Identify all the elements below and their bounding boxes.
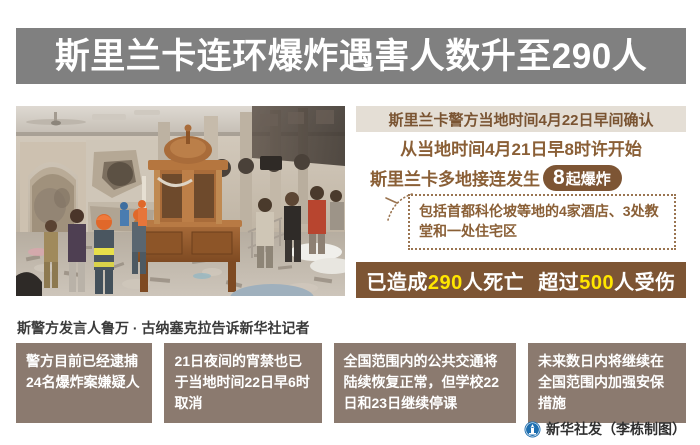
targets-callout: 包括首都科伦坡等地的4家酒店、3处教堂和一处住宅区 bbox=[408, 194, 676, 250]
confirmation-band: 斯里兰卡警方当地时间4月22日早间确认 bbox=[356, 106, 686, 132]
summary-panel: 斯里兰卡警方当地时间4月22日早间确认 从当地时间4月21日早8时许开始 斯里兰… bbox=[356, 106, 686, 298]
casualty-bar: 已造成290人死亡 超过500人受伤 bbox=[356, 262, 686, 298]
deaths-prefix: 已造成 bbox=[366, 272, 428, 294]
injured-prefix: 超过 bbox=[538, 272, 579, 294]
explosion-count-badge: 8 起爆炸 bbox=[543, 165, 622, 191]
explosions-prefix: 斯里兰卡多地接连发生 bbox=[370, 165, 540, 190]
fact-box: 未来数日内将继续在全国范围内加强安保措施 bbox=[528, 343, 686, 423]
deaths-stat: 已造成290人死亡 bbox=[366, 266, 524, 295]
source-attribution: 斯警方发言人鲁万 · 古纳塞克拉告诉新华社记者 bbox=[17, 318, 309, 338]
explosions-line: 斯里兰卡多地接连发生 8 起爆炸 bbox=[356, 162, 686, 192]
news-photo bbox=[16, 106, 345, 296]
news-photo-illustration bbox=[16, 106, 345, 296]
footer-credit: 新华社发（李栋制图） bbox=[524, 419, 686, 439]
footer-credit-text: 新华社发（李栋制图） bbox=[546, 419, 686, 439]
timeline-line: 从当地时间4月21日早8时许开始 bbox=[356, 132, 686, 162]
injured-suffix: 人受伤 bbox=[614, 272, 676, 294]
timeline-text: 从当地时间4月21日早8时许开始 bbox=[400, 135, 642, 160]
explosion-count-number: 8 bbox=[553, 167, 565, 188]
fact-box: 21日夜间的宵禁也已于当地时间22日早6时取消 bbox=[164, 343, 321, 423]
xinhua-logo-icon bbox=[524, 421, 541, 438]
page-title-bar: 斯里兰卡连环爆炸遇害人数升至290人 bbox=[16, 28, 686, 84]
confirmation-text: 斯里兰卡警方当地时间4月22日早间确认 bbox=[388, 109, 653, 130]
fact-box: 全国范围内的公共交通将陆续恢复正常，但学校22日和23日继续停课 bbox=[334, 343, 516, 423]
injured-number: 500 bbox=[579, 272, 614, 294]
page-title: 斯里兰卡连环爆炸遇害人数升至290人 bbox=[55, 39, 647, 74]
deaths-suffix: 人死亡 bbox=[463, 272, 525, 294]
injured-stat: 超过500人受伤 bbox=[538, 266, 675, 295]
targets-callout-wrap: 包括首都科伦坡等地的4家酒店、3处教堂和一处住宅区 bbox=[408, 194, 676, 250]
deaths-number: 290 bbox=[428, 272, 463, 294]
explosion-count-suffix: 起爆炸 bbox=[566, 172, 611, 187]
fact-box: 警方目前已经逮捕24名爆炸案嫌疑人 bbox=[16, 343, 152, 423]
fact-box-row: 警方目前已经逮捕24名爆炸案嫌疑人 21日夜间的宵禁也已于当地时间22日早6时取… bbox=[16, 343, 686, 423]
